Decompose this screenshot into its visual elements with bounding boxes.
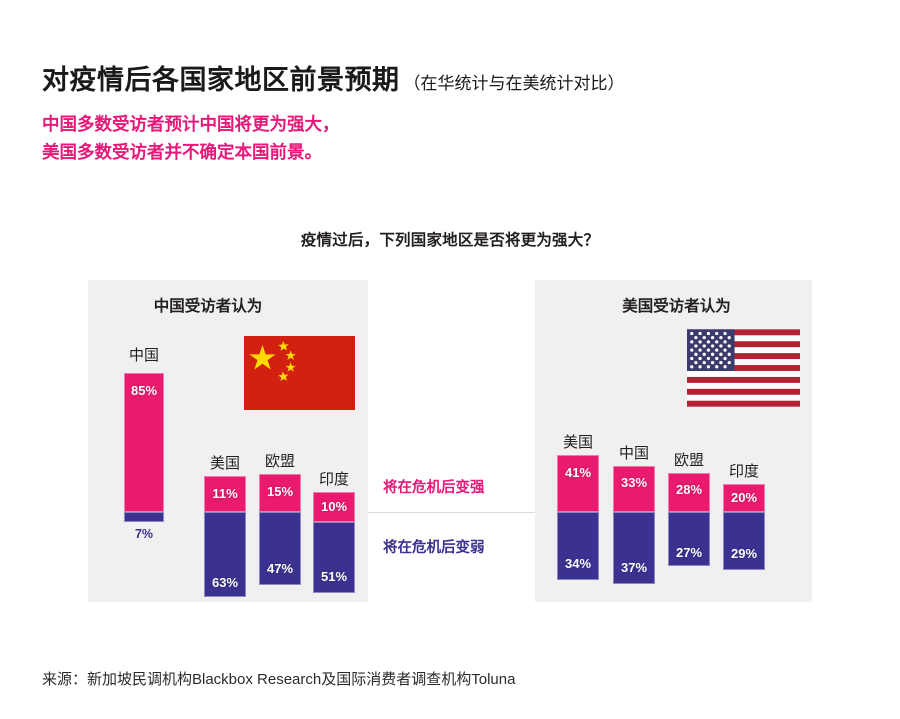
bar-right-eu[interactable]: 28% 27% (668, 473, 710, 566)
bar-label-negative: 37% (613, 560, 655, 575)
bar-label-positive: 33% (613, 475, 655, 490)
bar-label-positive: 20% (723, 490, 765, 505)
bar-right-china[interactable]: 33% 37% (613, 466, 655, 584)
cat-label-right-china: 中国 (604, 442, 664, 463)
bar-label-positive: 11% (204, 486, 246, 501)
bar-segment-negative (723, 512, 765, 570)
panel-right-title: 美国受访者认为 (538, 294, 815, 316)
bar-left-eu[interactable]: 15% 47% (259, 474, 301, 585)
legend-positive: 将在危机后变强 (383, 476, 485, 497)
bar-right-india[interactable]: 20% 29% (723, 484, 765, 570)
cat-label-left-china: 中国 (114, 344, 174, 365)
legend-negative: 将在危机后变弱 (383, 536, 485, 557)
bar-label-positive: 41% (557, 465, 599, 480)
bar-label-positive: 10% (313, 499, 355, 514)
bar-label-negative: 51% (313, 569, 355, 584)
bar-left-china[interactable]: 85% (124, 373, 164, 522)
cat-label-left-usa: 美国 (195, 452, 255, 473)
china-flag (243, 336, 356, 410)
bar-right-usa[interactable]: 41% 34% (557, 455, 599, 580)
chart-container: 中国受访者认为 85% 中国 7% 11% 63% 美国 15% 47% 欧盟 (0, 0, 900, 719)
cat-label-right-eu: 欧盟 (659, 449, 719, 470)
bar-left-india[interactable]: 10% 51% (313, 492, 355, 593)
source-note: 来源：新加坡民调机构Blackbox Research及国际消费者调查机构Tol… (42, 668, 515, 689)
bar-label-positive: 28% (668, 482, 710, 497)
cat-label-right-india: 印度 (714, 460, 774, 481)
bar-segment-negative (124, 512, 164, 522)
bar-left-usa[interactable]: 11% 63% (204, 476, 246, 597)
bar-label-positive: 85% (124, 383, 164, 398)
bar-segment-positive (557, 455, 599, 512)
bar-label-negative: 29% (723, 546, 765, 561)
bar-label-negative: 27% (668, 545, 710, 560)
cat-label-left-india: 印度 (304, 468, 364, 489)
bar-label-negative: 63% (204, 575, 246, 590)
usa-flag (687, 329, 800, 407)
bar-label-negative: 47% (259, 561, 301, 576)
cat-label-right-usa: 美国 (548, 431, 608, 452)
out-label-left-china-negative: 7% (114, 527, 174, 541)
cat-label-left-eu: 欧盟 (250, 450, 310, 471)
bar-label-positive: 15% (259, 484, 301, 499)
panel-left-title: 中国受访者认为 (68, 294, 348, 316)
bar-label-negative: 34% (557, 556, 599, 571)
